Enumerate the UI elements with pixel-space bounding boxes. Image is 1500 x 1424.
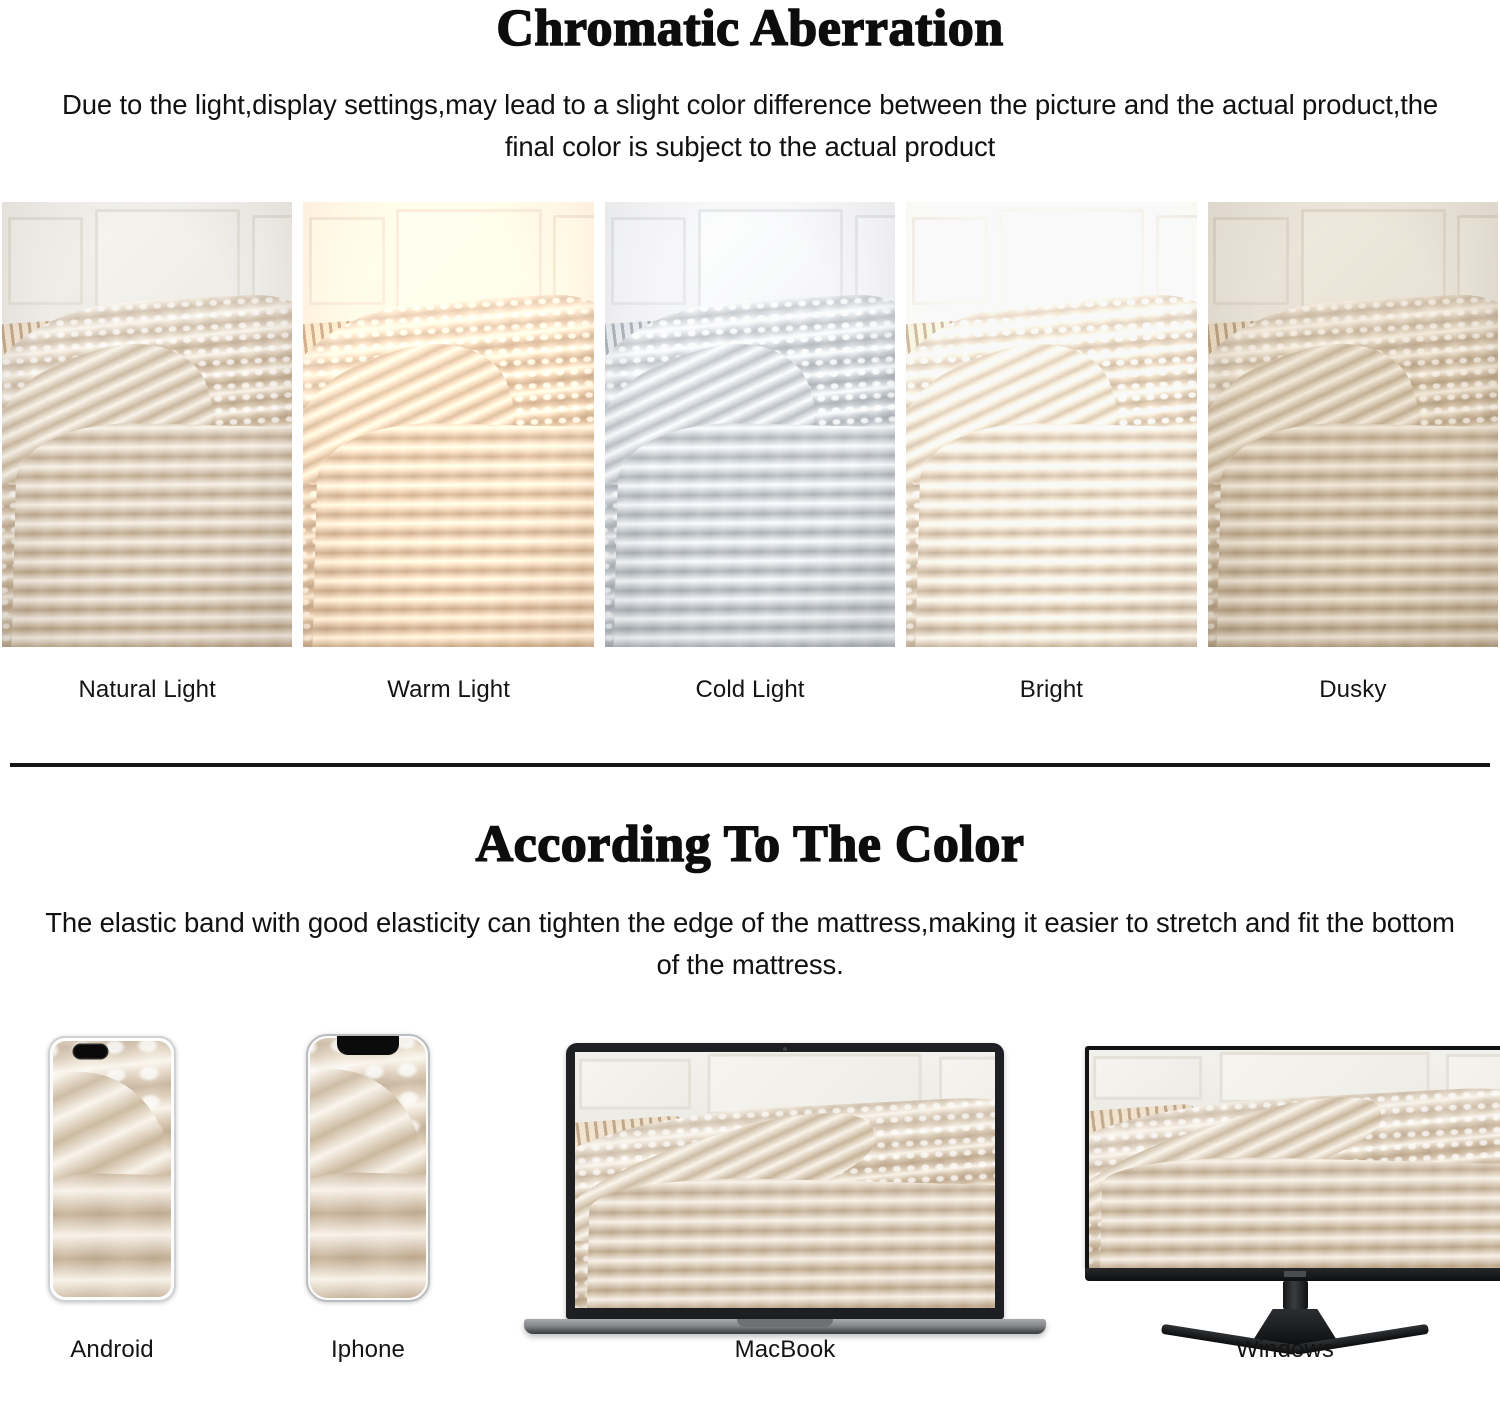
section-according-to-the-color: According To The Color The elastic band … bbox=[0, 818, 1500, 1376]
blanket-scene bbox=[575, 1052, 995, 1308]
lighting-label-bright: Bright bbox=[906, 676, 1196, 704]
iphone-frame bbox=[306, 1034, 430, 1302]
lighting-label-natural-light: Natural Light bbox=[2, 676, 292, 704]
vignette bbox=[605, 202, 895, 647]
infographic-page: Chromatic Aberration Due to the light,di… bbox=[0, 0, 1500, 1424]
lighting-label-dusky: Dusky bbox=[1208, 676, 1498, 704]
blanket-photo-bright bbox=[906, 202, 1196, 647]
monitor-screen bbox=[1089, 1050, 1500, 1268]
blanket-photo-cold-light bbox=[605, 202, 895, 647]
blanket-scene bbox=[906, 202, 1196, 647]
monitor-chin bbox=[1085, 1268, 1500, 1281]
device-iphone bbox=[306, 1034, 430, 1302]
lighting-label-cold-light: Cold Light bbox=[605, 676, 895, 704]
blanket-scene bbox=[2, 202, 292, 647]
page-title: Chromatic Aberration bbox=[0, 0, 1500, 56]
lighting-sample-cold-light: Cold Light bbox=[605, 202, 895, 704]
vignette bbox=[2, 202, 292, 647]
vignette bbox=[906, 202, 1196, 647]
device-macbook bbox=[566, 1043, 1046, 1334]
lighting-photo-strip: Natural Light bbox=[0, 202, 1500, 704]
blanket-scene bbox=[605, 202, 895, 647]
android-screen bbox=[53, 1041, 171, 1297]
vignette bbox=[303, 202, 593, 647]
android-phone-frame bbox=[48, 1036, 176, 1302]
blanket-drape bbox=[1100, 1153, 1500, 1268]
wall-panel bbox=[1093, 1055, 1202, 1099]
iphone-screen bbox=[310, 1038, 426, 1298]
monitor-brand-logo bbox=[1284, 1271, 1306, 1277]
macbook-lid-notch bbox=[737, 1319, 833, 1327]
device-windows-monitor bbox=[1085, 1046, 1500, 1367]
section-chromatic-aberration: Chromatic Aberration Due to the light,di… bbox=[0, 0, 1500, 704]
macbook-lid bbox=[566, 1043, 1004, 1319]
camera-punch-hole-icon bbox=[74, 1045, 107, 1058]
lighting-sample-dusky: Dusky bbox=[1208, 202, 1498, 704]
lighting-sample-bright: Bright bbox=[906, 202, 1196, 704]
blanket-scene bbox=[1089, 1050, 1500, 1268]
lighting-label-warm-light: Warm Light bbox=[303, 676, 593, 704]
according-to-the-color-description: The elastic band with good elasticity ca… bbox=[0, 902, 1500, 986]
blanket-photo-warm-light bbox=[303, 202, 593, 647]
blanket-photo-dusky bbox=[1208, 202, 1498, 647]
blanket-drape bbox=[310, 1169, 426, 1297]
device-label-macbook: MacBook bbox=[660, 1336, 910, 1364]
device-label-iphone: Iphone bbox=[288, 1336, 448, 1364]
monitor-neck bbox=[1283, 1281, 1308, 1309]
blanket-scene bbox=[53, 1041, 171, 1297]
lighting-sample-natural-light: Natural Light bbox=[2, 202, 292, 704]
device-caption-row: Android Iphone MacBook Windows bbox=[0, 1336, 1500, 1376]
blanket-scene bbox=[303, 202, 593, 647]
blanket-drape bbox=[586, 1174, 995, 1308]
device-label-android: Android bbox=[30, 1336, 194, 1364]
blanket-scene bbox=[310, 1038, 426, 1298]
macbook-screen bbox=[575, 1052, 995, 1308]
section-divider bbox=[10, 763, 1490, 767]
macbook-base bbox=[524, 1319, 1046, 1334]
device-label-windows: Windows bbox=[1160, 1336, 1410, 1364]
device-android bbox=[48, 1036, 176, 1302]
blanket-scene bbox=[1208, 202, 1498, 647]
lighting-sample-warm-light: Warm Light bbox=[303, 202, 593, 704]
wall-panel bbox=[579, 1058, 690, 1109]
blanket-photo-natural-light bbox=[2, 202, 292, 647]
webcam-icon bbox=[783, 1047, 787, 1051]
section-title-according-to-the-color: According To The Color bbox=[0, 818, 1500, 872]
monitor-bezel bbox=[1085, 1046, 1500, 1268]
notch-icon bbox=[337, 1036, 399, 1055]
chromatic-aberration-description: Due to the light,display settings,may le… bbox=[0, 84, 1500, 168]
device-preview-row bbox=[0, 1028, 1500, 1328]
blanket-drape bbox=[53, 1170, 171, 1297]
vignette bbox=[1208, 202, 1498, 647]
